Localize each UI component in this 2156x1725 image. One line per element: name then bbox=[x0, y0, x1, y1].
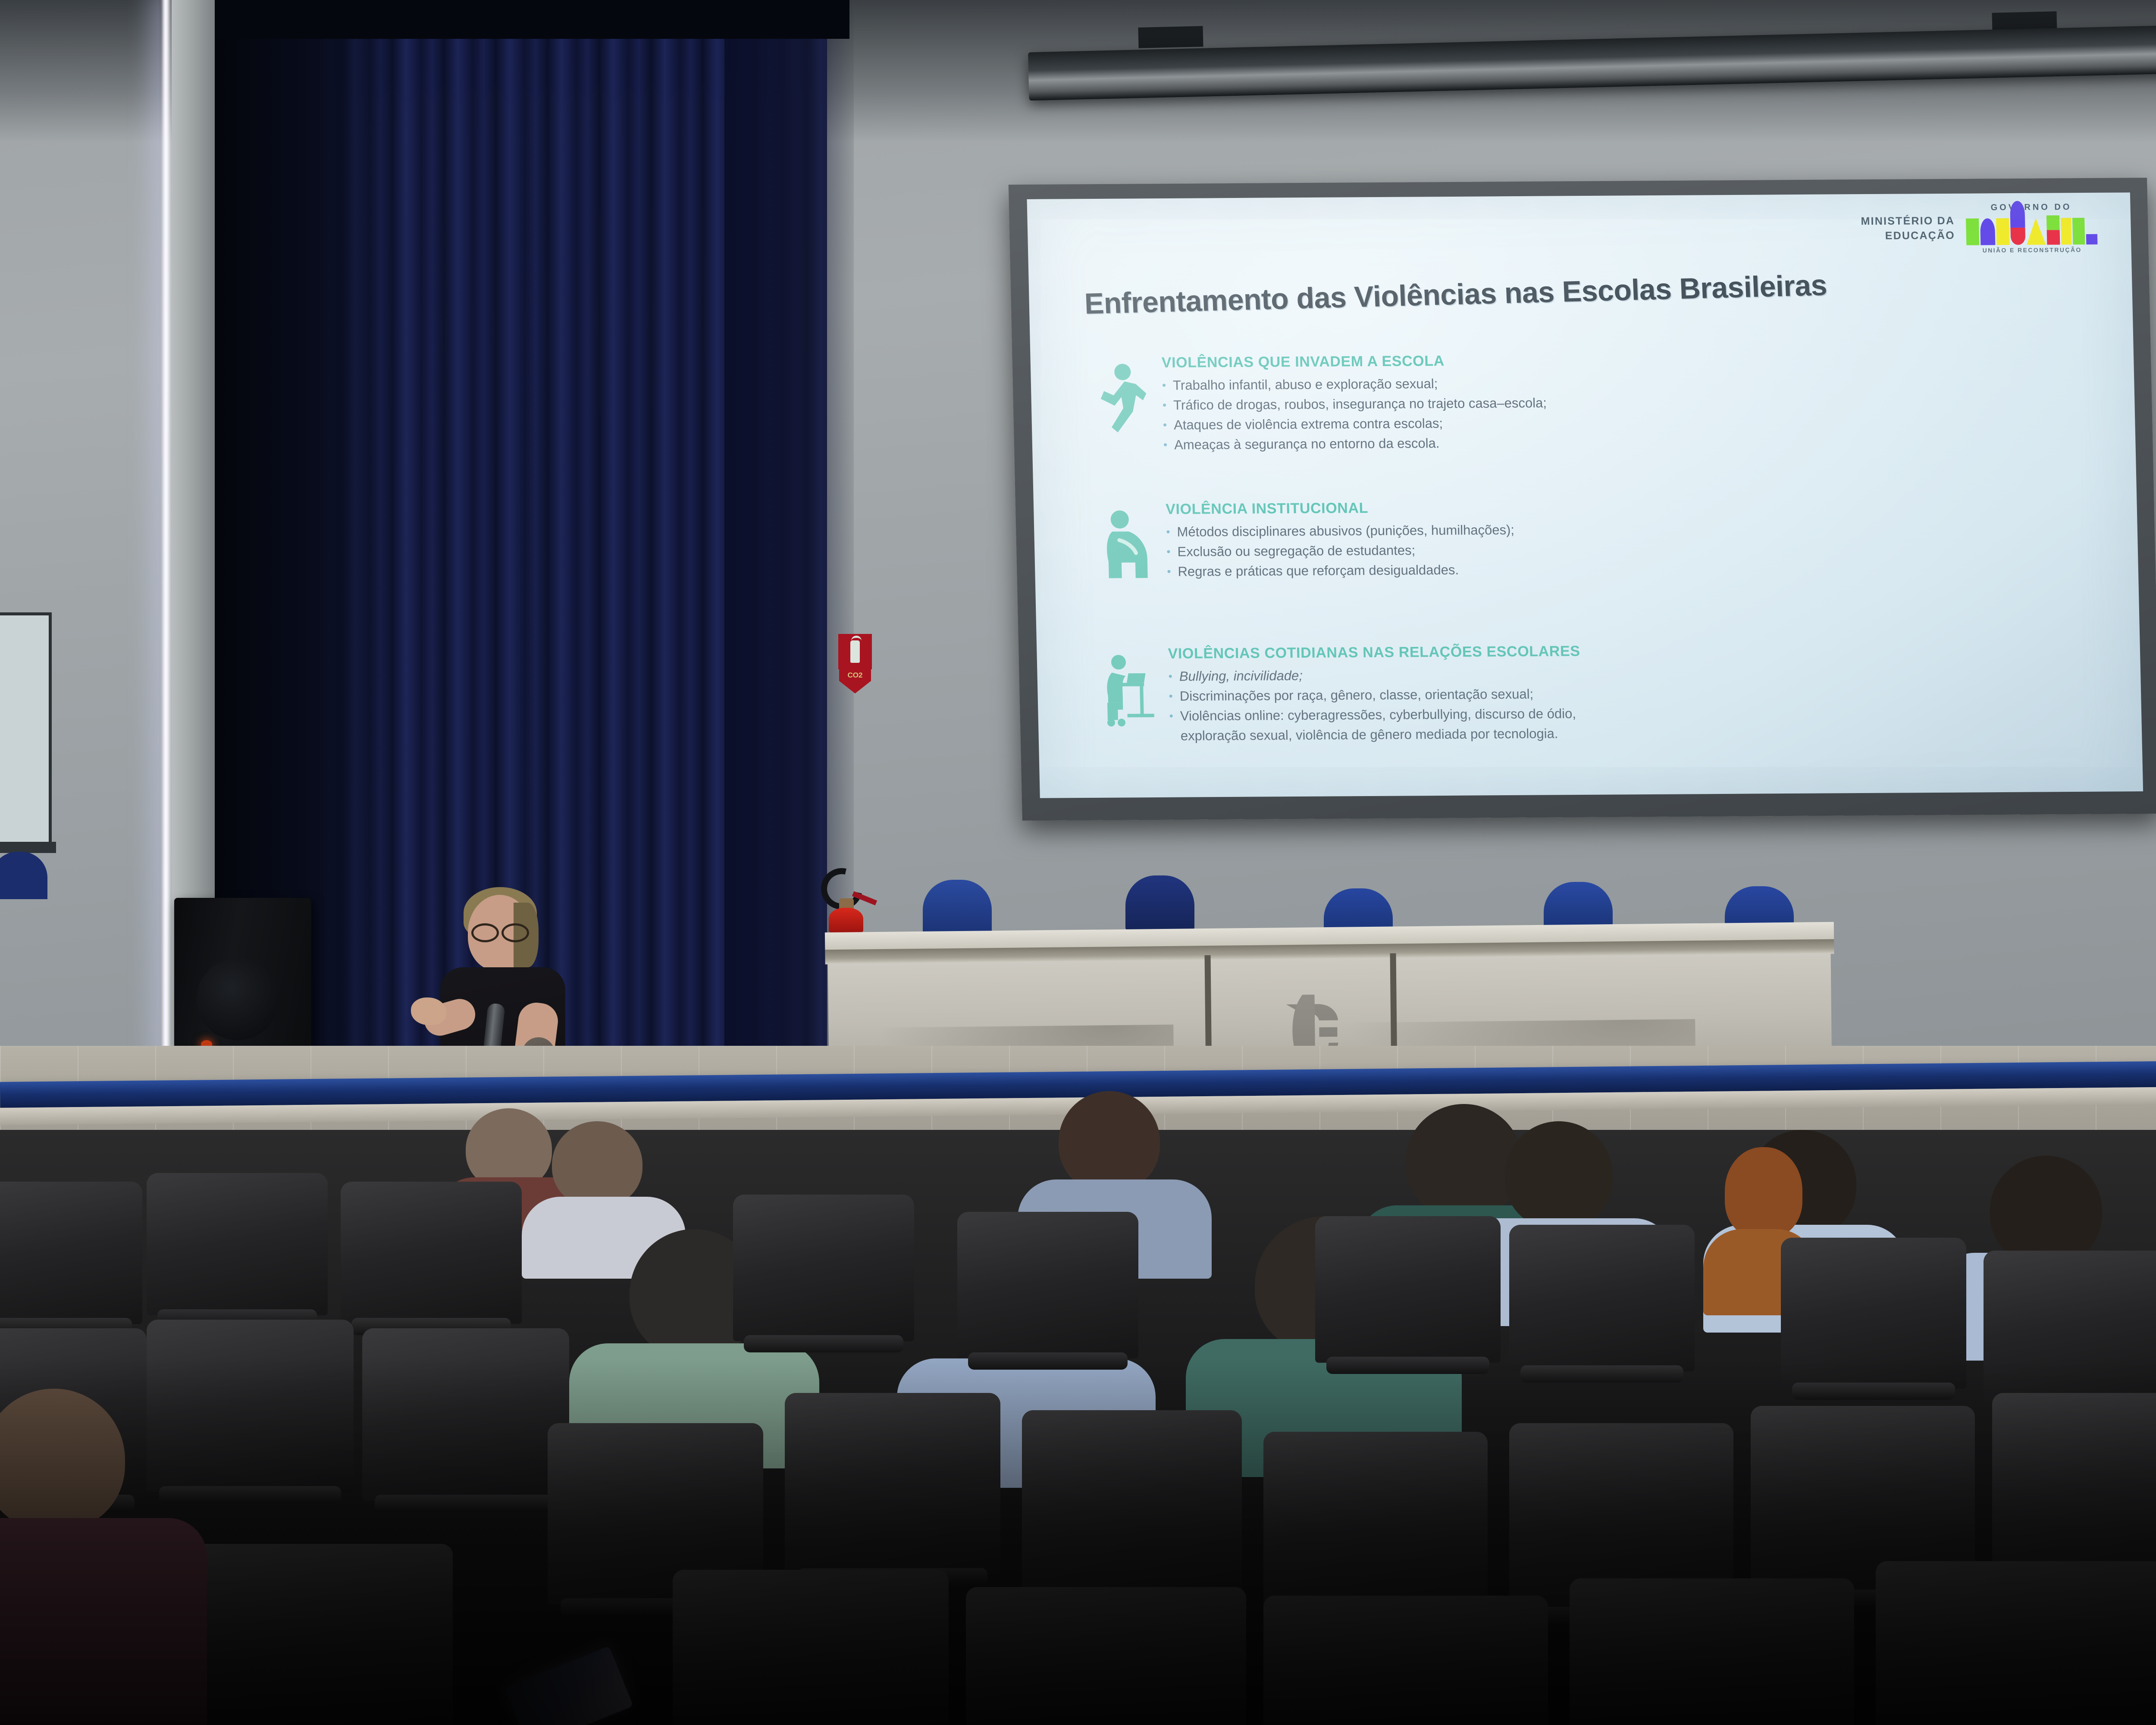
auditorium-seat[interactable] bbox=[1992, 1393, 2156, 1587]
speaker-woofer bbox=[197, 958, 279, 1040]
brasil-wordmark-shapes bbox=[1966, 214, 2098, 245]
person-head bbox=[552, 1121, 642, 1207]
fire-extinguisher bbox=[811, 865, 875, 931]
auditorium-seat[interactable] bbox=[185, 1544, 453, 1725]
list-item: •Discriminações por raça, gênero, classe… bbox=[1169, 684, 1581, 706]
section-bullet-list: •Trabalho infantil, abuso e exploração s… bbox=[1162, 373, 1548, 455]
curtain-rail bbox=[211, 0, 849, 39]
auditorium-seat[interactable] bbox=[673, 1570, 949, 1725]
person-head bbox=[0, 1389, 125, 1531]
person-torso bbox=[0, 1518, 207, 1725]
list-item: •Métodos disciplinares abusivos (puniçõe… bbox=[1166, 520, 1514, 542]
bullet-marker: • bbox=[1163, 415, 1167, 435]
bullet-marker: • bbox=[1163, 435, 1168, 455]
bullet-marker: • bbox=[1163, 395, 1167, 415]
auditorium-seat[interactable] bbox=[1263, 1432, 1488, 1621]
section-bullet-list: •Métodos disciplinares abusivos (puniçõe… bbox=[1166, 520, 1515, 582]
auditorium-seat[interactable] bbox=[966, 1587, 1246, 1725]
screen-bezel: MINISTÉRIO DA EDUCAÇÃO GOVERNO DO bbox=[1009, 178, 2156, 821]
auditorium-seat[interactable] bbox=[1263, 1596, 1548, 1725]
governo-do-brasil-logo: GOVERNO DO UNIÃO E RECONSTR bbox=[1965, 202, 2098, 254]
slide-section-everyday-violence: VIOLÊNCIAS COTIDIANAS NAS RELAÇÕES ESCOL… bbox=[1101, 642, 1582, 746]
wall-light-strip bbox=[160, 0, 172, 1087]
whiteboard-tray bbox=[0, 842, 56, 853]
fire-extinguisher-icon bbox=[838, 634, 872, 669]
auditorium-seat[interactable] bbox=[1876, 1561, 2156, 1725]
list-item: •Trabalho infantil, abuso e exploração s… bbox=[1162, 373, 1547, 395]
extinguisher-body bbox=[829, 908, 863, 933]
list-item: •Ataques de violência extrema contra esc… bbox=[1163, 413, 1548, 435]
person-at-desk-icon bbox=[1101, 645, 1155, 727]
slide-title: Enfrentamento das Violências nas Escolas… bbox=[1084, 268, 1827, 321]
auditorium-seat[interactable] bbox=[147, 1173, 328, 1315]
bullet-marker: • bbox=[1169, 687, 1173, 706]
projection-screen: MINISTÉRIO DA EDUCAÇÃO GOVERNO DO bbox=[1009, 178, 2156, 821]
person-head bbox=[1505, 1121, 1613, 1229]
auditorium-seat[interactable] bbox=[341, 1182, 522, 1324]
crouching-person-icon bbox=[1099, 500, 1153, 583]
list-item: •Tráfico de drogas, roubos, insegurança … bbox=[1163, 393, 1547, 415]
bullet-marker: • bbox=[1169, 706, 1173, 726]
auditorium-seat[interactable] bbox=[1984, 1251, 2156, 1402]
auditorium-seat[interactable] bbox=[1570, 1578, 1854, 1725]
section-heading: VIOLÊNCIAS COTIDIANAS NAS RELAÇÕES ESCOL… bbox=[1168, 643, 1580, 662]
panel-chair bbox=[1125, 875, 1194, 931]
auditorium-seat[interactable] bbox=[785, 1393, 1000, 1574]
auditorium-seat[interactable] bbox=[1781, 1238, 1966, 1389]
presentation-slide: MINISTÉRIO DA EDUCAÇÃO GOVERNO DO bbox=[1027, 192, 2143, 798]
list-item: •Violências online: cyberagressões, cybe… bbox=[1169, 704, 1582, 726]
governo-tagline: UNIÃO E RECONSTRUÇÃO bbox=[1966, 246, 2097, 254]
government-logo-block: MINISTÉRIO DA EDUCAÇÃO GOVERNO DO bbox=[1861, 202, 2098, 254]
list-item: •Bullying, incivilidade; bbox=[1168, 664, 1581, 687]
screen-bracket-left bbox=[1138, 26, 1203, 48]
auditorium-seat[interactable] bbox=[0, 1182, 142, 1324]
list-item: •exploração sexual, violência de gênero … bbox=[1169, 724, 1582, 746]
whiteboard bbox=[0, 612, 52, 845]
auditorium-seat[interactable] bbox=[957, 1212, 1138, 1358]
ministry-of-education-label: MINISTÉRIO DA EDUCAÇÃO bbox=[1861, 214, 1955, 244]
fire-sign-arrow: CO2 bbox=[839, 669, 871, 693]
panel-chair bbox=[923, 880, 992, 936]
person-head bbox=[1725, 1147, 1802, 1238]
list-item: •Ameaças à segurança no entorno da escol… bbox=[1163, 433, 1548, 455]
section-heading: VIOLÊNCIAS QUE INVADEM A ESCOLA bbox=[1161, 352, 1546, 371]
auditorium-seat[interactable] bbox=[1509, 1225, 1695, 1371]
person-head bbox=[1990, 1156, 2102, 1266]
bullet-marker: • bbox=[1167, 562, 1171, 582]
bullet-marker: • bbox=[1162, 376, 1166, 395]
bullet-marker: • bbox=[1168, 667, 1172, 687]
presenter-left-hand bbox=[411, 997, 446, 1025]
eyeglasses-icon bbox=[471, 923, 529, 938]
auditorium-seat[interactable] bbox=[362, 1328, 569, 1501]
bullet-marker: • bbox=[1166, 522, 1170, 542]
bullet-marker: • bbox=[1166, 542, 1171, 562]
auditorium-seat[interactable] bbox=[1315, 1216, 1501, 1363]
foreground-audience-member bbox=[0, 1389, 207, 1725]
person-head bbox=[1059, 1091, 1160, 1192]
slide-section-invasive-violence: VIOLÊNCIAS QUE INVADEM A ESCOLA •Trabalh… bbox=[1095, 351, 1548, 455]
section-heading: VIOLÊNCIA INSTITUCIONAL bbox=[1166, 499, 1514, 518]
governo-kicker: GOVERNO DO bbox=[1965, 202, 2097, 213]
section-bullet-list: •Bullying, incivilidade; •Discriminações… bbox=[1168, 664, 1582, 746]
slide-section-institutional-violence: VIOLÊNCIA INSTITUCIONAL •Métodos discipl… bbox=[1099, 498, 1516, 583]
auditorium-photo: MINISTÉRIO DA EDUCAÇÃO GOVERNO DO bbox=[0, 0, 2156, 1725]
auditorium-seat[interactable] bbox=[733, 1195, 914, 1341]
list-item: •Exclusão ou segregação de estudantes; bbox=[1166, 540, 1515, 562]
auditorium-seat[interactable] bbox=[1022, 1410, 1242, 1596]
fire-extinguisher-sign-left: CO2 bbox=[838, 634, 872, 693]
list-item: •Regras e práticas que reforçam desigual… bbox=[1167, 560, 1515, 582]
running-person-icon bbox=[1095, 354, 1148, 437]
